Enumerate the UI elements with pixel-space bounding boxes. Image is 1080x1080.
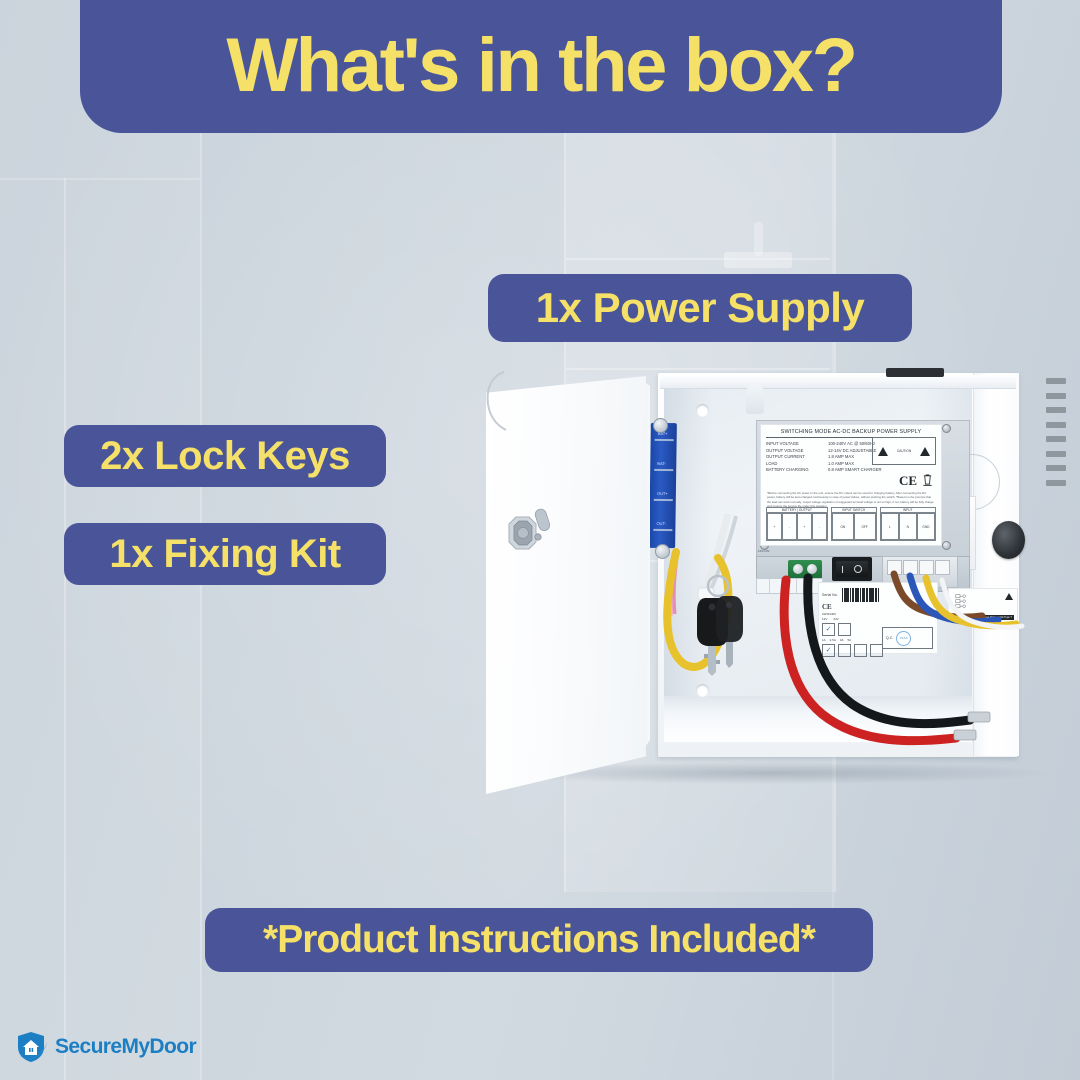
shield-house-icon <box>14 1030 48 1064</box>
lock-keys <box>688 572 762 682</box>
cam-lock-icon[interactable] <box>505 506 557 560</box>
product-image: SWITCHING MODE AC-DC BACKUP POWER SUPPLY… <box>470 366 1070 806</box>
badge-lock-keys: 2x Lock Keys <box>64 425 386 487</box>
brand-name: SecureMyDoor <box>55 1035 196 1059</box>
badge-instructions: *Product Instructions Included* <box>205 908 873 972</box>
badge-power-supply: 1x Power Supply <box>488 274 912 342</box>
badge-fixing-kit: 1x Fixing Kit <box>64 523 386 585</box>
hinge-wire-icon <box>482 370 516 444</box>
page-title: What's in the box? <box>80 0 1002 133</box>
poster-canvas: SWITCHING MODE AC-DC BACKUP POWER SUPPLY… <box>0 0 1080 1080</box>
brand-logo[interactable]: SecureMyDoor <box>14 1030 196 1064</box>
